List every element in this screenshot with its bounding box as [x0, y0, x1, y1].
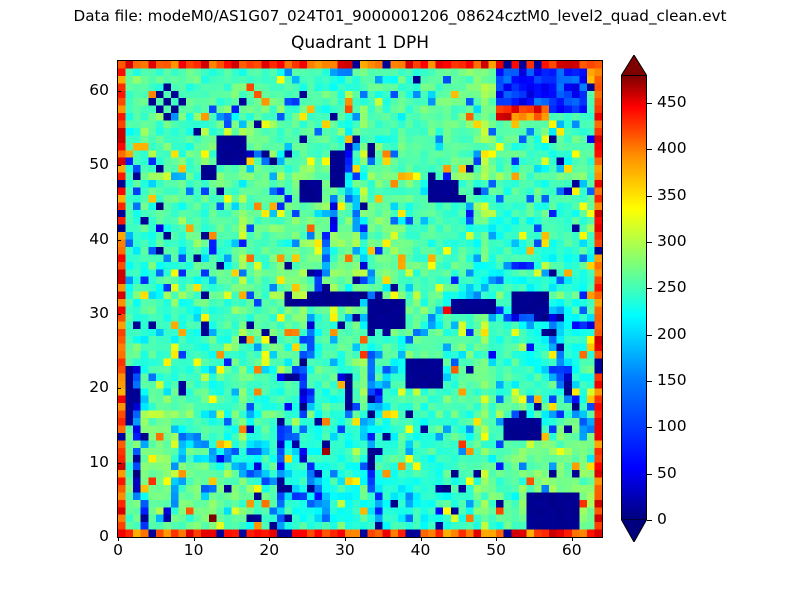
heatmap-image[interactable]	[118, 61, 602, 537]
y-tick-mark	[117, 314, 121, 315]
colorbar-tick-label: 100	[657, 418, 687, 435]
y-tick-mark	[117, 165, 121, 166]
y-tick-mark	[117, 388, 121, 389]
colorbar-tick-mark	[647, 381, 652, 382]
datafile-label: Data file: modeM0/AS1G07_024T01_90000012…	[0, 7, 800, 25]
y-tick-mark	[117, 240, 121, 241]
colorbar-tick-label: 300	[657, 233, 687, 250]
colorbar-tick-label: 250	[657, 279, 687, 296]
colorbar-tick-label: 0	[657, 511, 667, 528]
colorbar-tick-mark	[647, 242, 652, 243]
page-title: Quadrant 1 DPH	[117, 33, 603, 53]
x-tick-label: 30	[315, 542, 375, 559]
y-tick-mark	[117, 537, 121, 538]
y-tick-label: 0	[49, 528, 109, 545]
y-tick-label: 40	[49, 231, 109, 248]
colorbar-tick-label: 50	[657, 465, 677, 482]
y-tick-label: 50	[49, 156, 109, 173]
colorbar-tick-mark	[647, 149, 652, 150]
y-tick-label: 60	[49, 82, 109, 99]
colorbar-under-arrow-icon	[621, 519, 647, 542]
figure-canvas: Data file: modeM0/AS1G07_024T01_90000012…	[0, 0, 800, 600]
colorbar-tick-label: 150	[657, 372, 687, 389]
colorbar-tick-label: 450	[657, 94, 687, 111]
colorbar-tick-label: 400	[657, 140, 687, 157]
y-tick-label: 10	[49, 454, 109, 471]
heatmap-axes[interactable]	[117, 60, 603, 538]
colorbar-tick-mark	[647, 103, 652, 104]
colorbar-tick-mark	[647, 196, 652, 197]
colorbar-tick-mark	[647, 288, 652, 289]
colorbar-over-arrow-icon	[621, 55, 647, 76]
x-tick-label: 10	[164, 542, 224, 559]
y-tick-mark	[117, 91, 121, 92]
colorbar-tick-mark	[647, 520, 652, 521]
x-tick-label: 50	[466, 542, 526, 559]
colorbar-tick-mark	[647, 335, 652, 336]
colorbar-tick-label: 350	[657, 187, 687, 204]
colorbar-gradient[interactable]	[621, 75, 647, 520]
y-tick-mark	[117, 463, 121, 464]
x-tick-label: 40	[391, 542, 451, 559]
colorbar[interactable]: 050100150200250300350400450	[621, 55, 731, 545]
y-tick-label: 30	[49, 305, 109, 322]
colorbar-tick-mark	[647, 474, 652, 475]
colorbar-tick-label: 200	[657, 326, 687, 343]
y-tick-label: 20	[49, 379, 109, 396]
x-tick-label: 20	[239, 542, 299, 559]
x-tick-label: 60	[542, 542, 602, 559]
colorbar-tick-mark	[647, 427, 652, 428]
